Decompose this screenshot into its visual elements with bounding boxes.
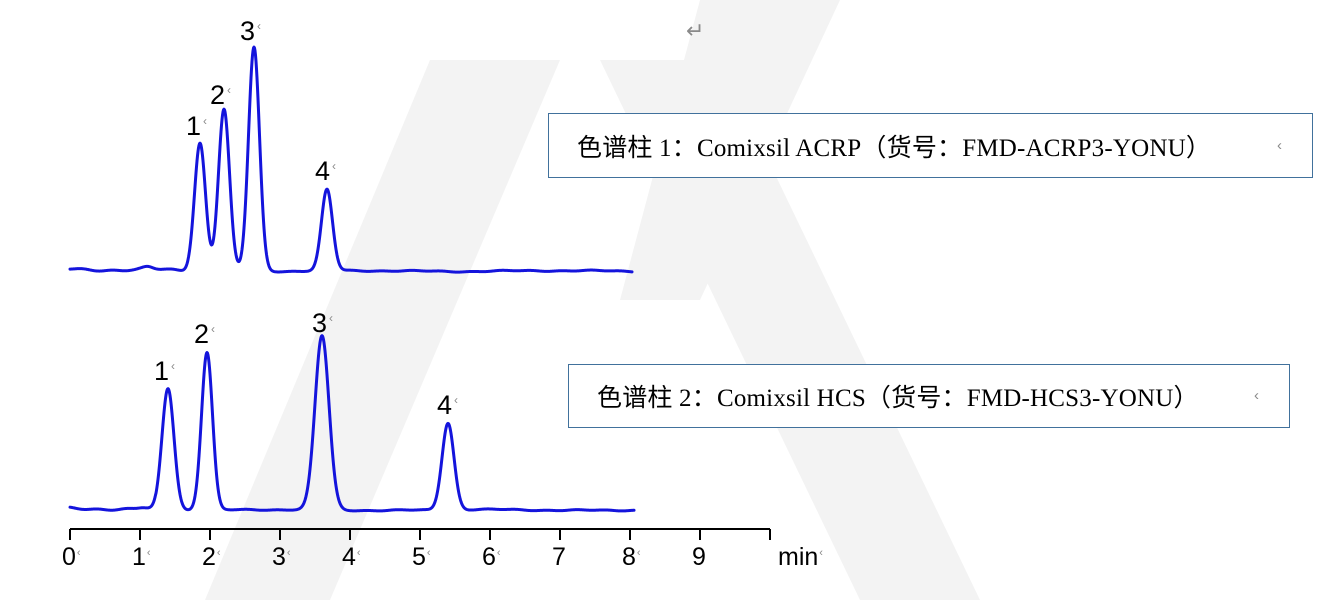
formatting-mark-icon: ‹ [171,359,175,373]
tick-label-value: 9 [692,543,706,571]
x-axis-tick-label-5: 5‹ [412,545,431,570]
peak-label-value: 3 [312,308,327,338]
peak-label-value: 3 [240,16,255,46]
formatting-mark-icon: ‹ [357,547,361,559]
tick-label-value: 3 [272,543,286,571]
tick-label-value: 7 [552,543,566,571]
tick-label-value: 2 [202,543,216,571]
x-axis-unit-value: min [778,543,818,571]
x-axis-tick-label-2: 2‹ [202,545,221,570]
tick-label-value: 1 [132,543,146,571]
peak-label-1-3: 3‹ [240,18,261,45]
peak-label-2-2: 2‹ [194,321,215,348]
formatting-mark-icon: ‹ [287,547,291,559]
peak-label-value: 2 [210,80,225,110]
x-axis-tick-label-7: 7 [552,545,566,570]
x-axis-tick-label-4: 4‹ [342,545,361,570]
formatting-mark-icon: ‹ [77,547,81,559]
x-axis-tick-label-0: 0‹ [62,545,81,570]
formatting-mark-icon: ‹ [819,547,823,559]
peak-label-2-4: 4‹ [437,392,458,419]
x-axis [70,529,770,540]
tick-label-value: 6 [482,543,496,571]
formatting-mark-icon: ‹ [227,83,231,97]
peak-label-2-3: 3‹ [312,310,333,337]
x-axis-unit-label: min‹ [778,545,823,570]
chromatogram-figure-page: 1‹2‹3‹4‹1‹2‹3‹4‹ 0‹1‹2‹3‹4‹5‹6‹78‹9min‹ … [0,0,1333,604]
column-2-callout[interactable]: 色谱柱 2：Comixsil HCS（货号：FMD-HCS3-YONU） [568,364,1290,428]
paragraph-return-mark: ↵ [686,18,704,44]
formatting-mark-icon: ‹ [332,159,336,173]
peak-label-value: 4 [315,156,330,186]
peak-label-2-1: 1‹ [154,358,175,385]
x-axis-tick-label-8: 8‹ [622,545,641,570]
column-1-callout[interactable]: 色谱柱 1：Comixsil ACRP（货号：FMD-ACRP3-YONU） [548,113,1313,178]
x-axis-tick-label-3: 3‹ [272,545,291,570]
column-1-callout-text: 色谱柱 1：Comixsil ACRP（货号：FMD-ACRP3-YONU） [549,128,1211,164]
tick-label-value: 0 [62,543,76,571]
tick-label-value: 4 [342,543,356,571]
peak-label-1-2: 2‹ [210,82,231,109]
column-2-callout-text: 色谱柱 2：Comixsil HCS（货号：FMD-HCS3-YONU） [569,378,1199,414]
tick-label-value: 8 [622,543,636,571]
formatting-mark-icon: ‹ [203,114,207,128]
tick-label-value: 5 [412,543,426,571]
peak-label-value: 1 [154,356,169,386]
x-axis-tick-label-9: 9 [692,545,706,570]
peak-label-1-1: 1‹ [186,113,207,140]
formatting-mark-icon: ‹ [329,311,333,325]
peak-label-1-4: 4‹ [315,158,336,185]
peak-label-value: 2 [194,319,209,349]
formatting-mark-icon: ‹ [454,393,458,407]
formatting-mark-icon: ‹ [211,322,215,336]
peak-label-value: 1 [186,111,201,141]
chromatogram-plot [0,0,1333,604]
formatting-mark-icon: ‹ [427,547,431,559]
x-axis-tick-label-1: 1‹ [132,545,151,570]
column-2-callout-end-mark: ‹ [1254,387,1259,404]
x-axis-tick-label-6: 6‹ [482,545,501,570]
formatting-mark-icon: ‹ [257,19,261,33]
formatting-mark-icon: ‹ [637,547,641,559]
formatting-mark-icon: ‹ [147,547,151,559]
formatting-mark-icon: ‹ [497,547,501,559]
peak-label-value: 4 [437,390,452,420]
formatting-mark-icon: ‹ [217,547,221,559]
column-1-callout-end-mark: ‹ [1277,137,1282,154]
